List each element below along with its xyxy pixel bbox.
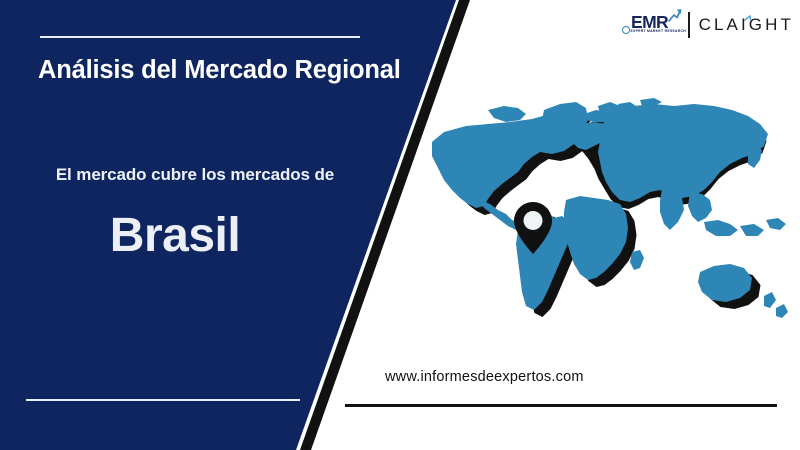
- world-map-graphic: [418, 96, 800, 346]
- regional-market-banner: Análisis del Mercado Regional El mercado…: [0, 0, 800, 450]
- top-divider-rule: [40, 36, 360, 38]
- map-land-layer: [432, 98, 788, 318]
- emr-tagline: EXPERT MARKET RESEARCH: [630, 29, 686, 33]
- emr-logo: EMR EXPERT MARKET RESEARCH: [622, 10, 685, 40]
- claight-wordmark: CLAIGHT: [699, 15, 794, 35]
- bottom-divider-rule: [26, 399, 300, 401]
- country-name: Brasil: [0, 208, 350, 263]
- brand-logo-lockup[interactable]: EMR EXPERT MARKET RESEARCH CLAIGHT: [622, 8, 794, 42]
- logo-divider-icon: [688, 12, 690, 38]
- claight-accent-icon: [744, 9, 753, 29]
- emr-circle-icon: [622, 26, 630, 34]
- bottom-black-rule: [345, 404, 777, 407]
- left-content-panel: Análisis del Mercado Regional El mercado…: [0, 0, 440, 450]
- emr-growth-arrow-icon: [668, 8, 682, 27]
- page-title: Análisis del Mercado Regional: [38, 55, 433, 86]
- banner-subtitle: El mercado cubre los mercados de: [0, 165, 390, 185]
- website-url[interactable]: www.informesdeexpertos.com: [385, 369, 584, 385]
